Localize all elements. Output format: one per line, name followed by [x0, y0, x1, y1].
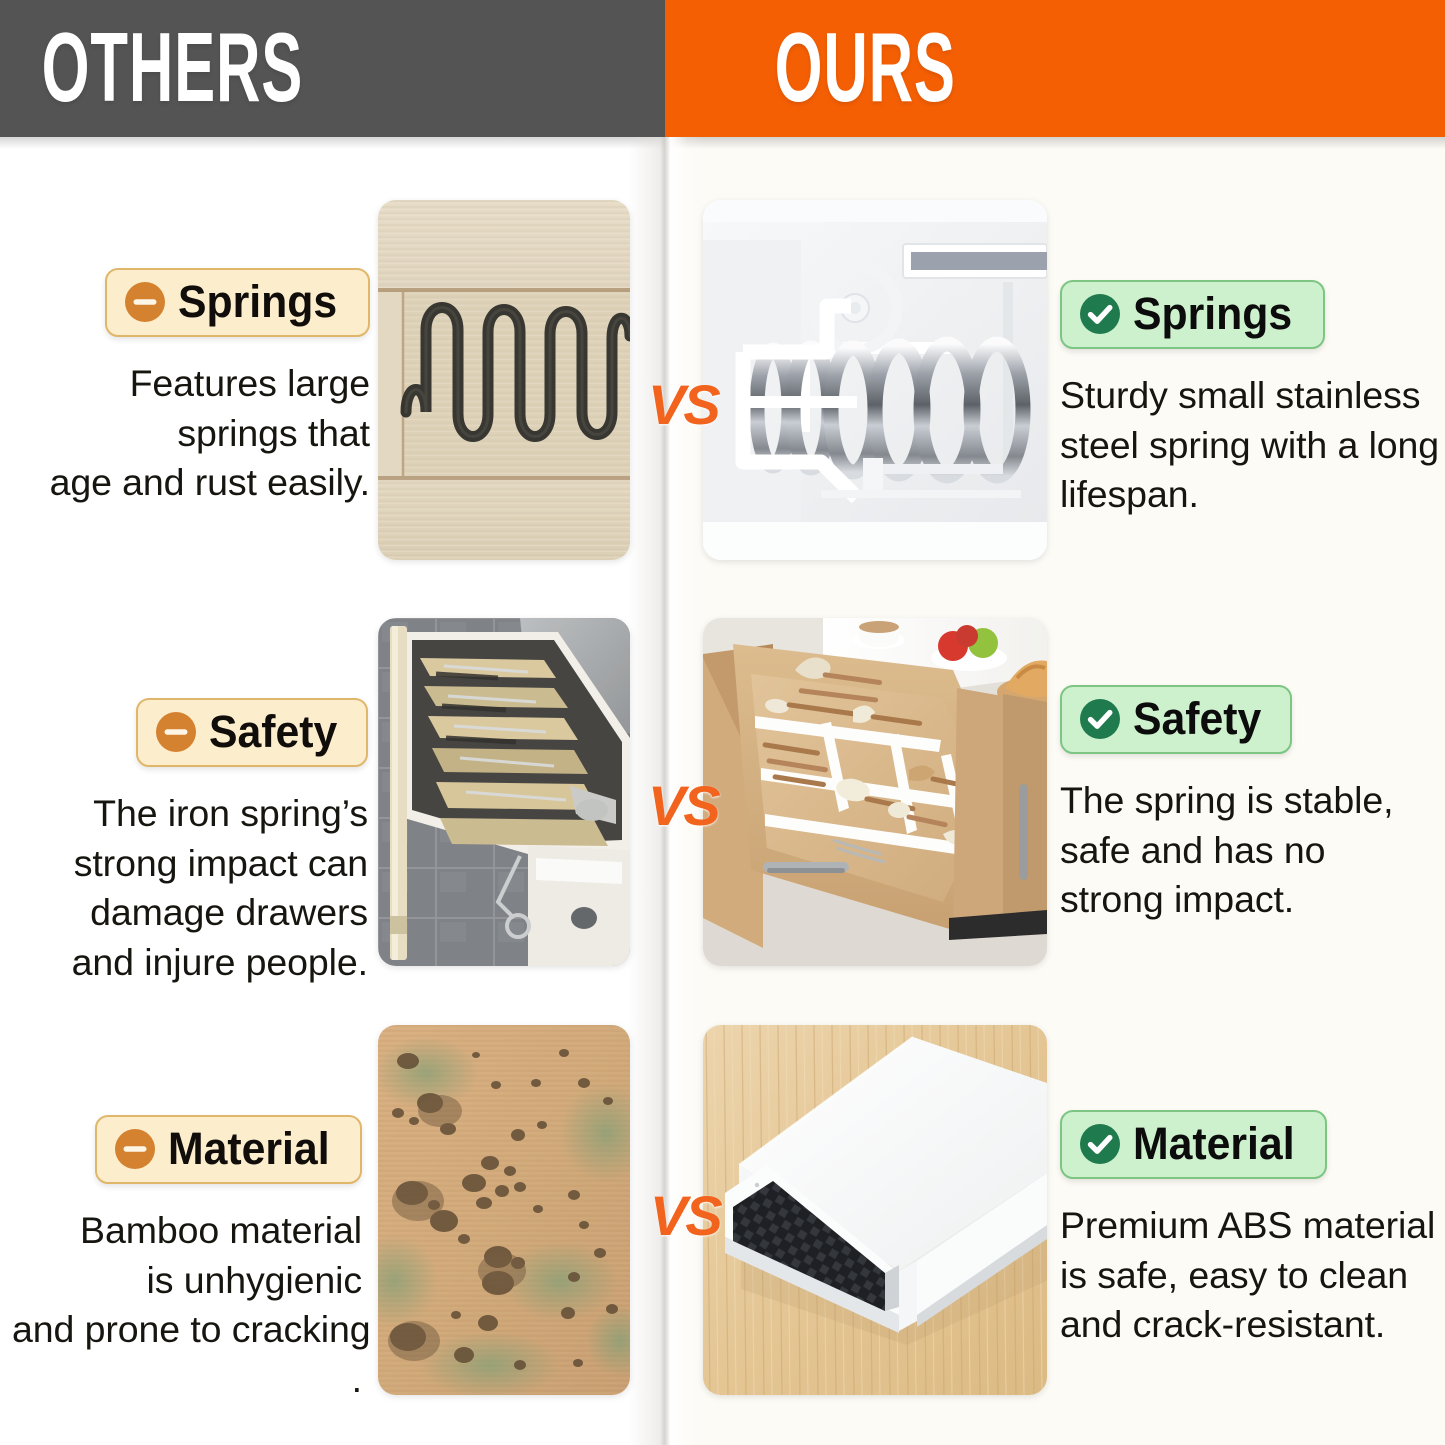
- badge-label: Material: [1133, 1121, 1295, 1166]
- text-line: steel spring with a long: [1060, 421, 1420, 471]
- material-ours-description: Premium ABS material is safe, easy to cl…: [1060, 1201, 1420, 1350]
- badge-others-safety: Safety: [136, 698, 368, 767]
- safety-others-description: The iron spring’s strong impact can dama…: [18, 789, 368, 987]
- organized-wooden-drawer-with-dividers-photo: [703, 618, 1047, 966]
- vs-label-material: VS: [650, 1183, 721, 1248]
- vs-label-safety: VS: [648, 773, 719, 838]
- badge-label: Safety: [209, 709, 337, 754]
- header-others-title: OTHERS: [42, 12, 303, 126]
- badge-label: Safety: [1133, 696, 1261, 741]
- minus-circle-icon: [113, 1127, 157, 1171]
- badge-others-material: Material: [95, 1115, 362, 1184]
- springs-ours-description: Sturdy small stainless steel spring with…: [1060, 371, 1420, 520]
- header-bar: OTHERS OURS: [0, 0, 1445, 137]
- badge-ours-material: Material: [1060, 1110, 1327, 1179]
- badge-ours-safety: Safety: [1060, 685, 1292, 754]
- minus-circle-icon: [154, 710, 198, 754]
- badge-ours-springs: Springs: [1060, 280, 1325, 349]
- badge-label: Springs: [1133, 291, 1292, 336]
- minus-circle-icon: [123, 280, 167, 324]
- text-line: and crack-resistant.: [1060, 1300, 1420, 1350]
- white-abs-drawer-organizer-on-wood-photo: [703, 1025, 1047, 1395]
- text-line: Features large: [20, 359, 370, 409]
- text-line: safe and has no: [1060, 826, 1420, 876]
- text-line: Sturdy small stainless: [1060, 371, 1420, 421]
- header-ours-half: OURS: [665, 0, 1445, 137]
- badge-others-springs: Springs: [105, 268, 370, 337]
- bamboo-board-with-large-black-spring-photo: [378, 200, 630, 560]
- text-line: strong impact can: [18, 839, 368, 889]
- comparison-row-safety: Safety The iron spring’s strong impact c…: [0, 600, 1445, 985]
- comparison-row-springs: Springs Features large springs that age …: [0, 180, 1445, 580]
- springs-ours-text-block: Springs Sturdy small stainless steel spr…: [1060, 280, 1420, 520]
- comparison-row-material: Material Bamboo material is unhygienic a…: [0, 1005, 1445, 1405]
- text-line: and prone to cracking: [12, 1305, 362, 1355]
- check-circle-icon: [1078, 697, 1122, 741]
- text-line: .: [12, 1355, 362, 1405]
- safety-ours-description: The spring is stable, safe and has no st…: [1060, 776, 1420, 925]
- header-ours-title: OURS: [774, 12, 955, 126]
- text-line: Premium ABS material: [1060, 1201, 1420, 1251]
- material-others-description: Bamboo material is unhygienic and prone …: [12, 1206, 362, 1404]
- text-line: age and rust easily.: [20, 458, 370, 508]
- text-line: The iron spring’s: [18, 789, 368, 839]
- badge-label: Springs: [178, 279, 337, 324]
- text-line: The spring is stable,: [1060, 776, 1420, 826]
- safety-ours-text-block: Safety The spring is stable, safe and ha…: [1060, 685, 1420, 925]
- material-others-text-block: Material Bamboo material is unhygienic a…: [12, 1115, 362, 1404]
- text-line: damage drawers: [18, 888, 368, 938]
- springs-others-text-block: Springs Features large springs that age …: [20, 268, 370, 508]
- text-line: is unhygienic: [12, 1256, 362, 1306]
- badge-label: Material: [168, 1126, 330, 1171]
- safety-others-text-block: Safety The iron spring’s strong impact c…: [18, 698, 368, 987]
- moldy-bamboo-board-photo: [378, 1025, 630, 1395]
- comparison-infographic: OTHERS OURS Springs Features large sprin…: [0, 0, 1445, 1445]
- text-line: lifespan.: [1060, 470, 1420, 520]
- text-line: Bamboo material: [12, 1206, 362, 1256]
- white-mechanism-with-stainless-coil-spring-photo: [703, 200, 1047, 560]
- springs-others-description: Features large springs that age and rust…: [20, 359, 370, 508]
- vs-label-springs: VS: [648, 372, 719, 437]
- material-ours-text-block: Material Premium ABS material is safe, e…: [1060, 1110, 1420, 1350]
- text-line: springs that: [20, 409, 370, 459]
- text-line: and injure people.: [18, 938, 368, 988]
- header-others-half: OTHERS: [0, 0, 665, 137]
- messy-kitchen-drawer-with-knives-photo: [378, 618, 630, 966]
- check-circle-icon: [1078, 1122, 1122, 1166]
- text-line: is safe, easy to clean: [1060, 1251, 1420, 1301]
- text-line: strong impact.: [1060, 875, 1420, 925]
- check-circle-icon: [1078, 292, 1122, 336]
